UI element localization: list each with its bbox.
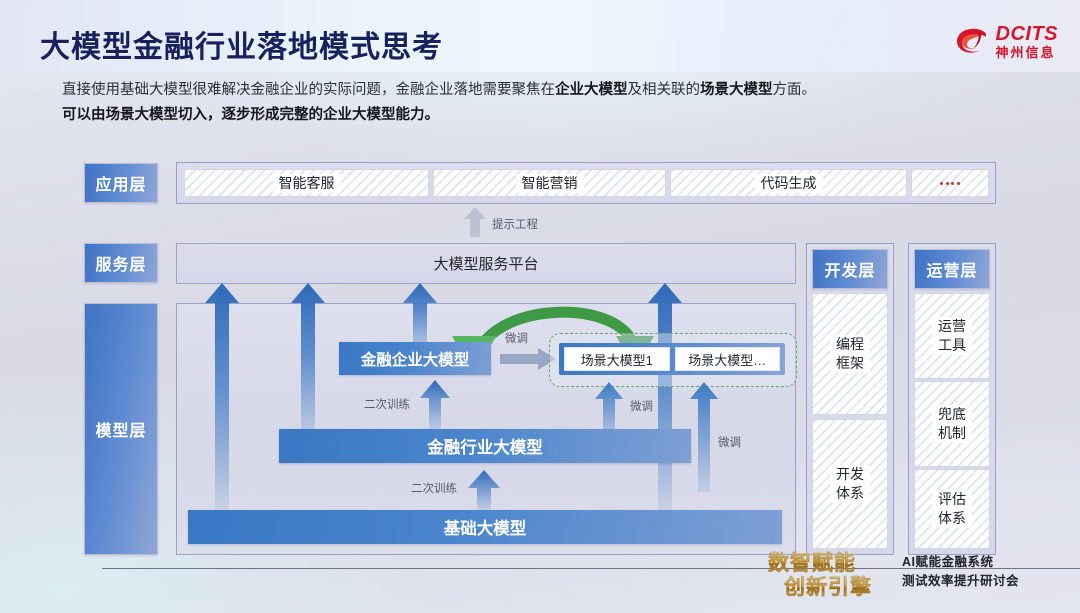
- service-platform-label: 大模型服务平台: [433, 253, 538, 274]
- retrain-note-1: 二次训练: [364, 396, 410, 412]
- base-model-label: 基础大模型: [444, 515, 527, 539]
- finetune-note-3: 微调: [718, 434, 741, 450]
- brand-name-en: DCITS: [996, 24, 1059, 44]
- scenario-model-1[interactable]: 场景大模型1: [564, 347, 670, 371]
- layer-tag-model: 模型层: [84, 303, 158, 555]
- event-name-line-2: 测试效率提升研讨会: [902, 572, 1052, 591]
- brand-logo: DCITS 神州信息: [955, 24, 1059, 59]
- slide-canvas: 大模型金融行业落地模式思考 直接使用基础大模型很难解决金融企业的实际问题，金融企…: [0, 0, 1080, 613]
- app-item-more[interactable]: [911, 169, 989, 197]
- prompt-engineering-arrow-icon: [464, 207, 486, 237]
- prompt-engineering-note: 提示工程: [492, 216, 538, 232]
- dev-item-dev-system-label: 开发 体系: [830, 465, 870, 503]
- app-item-smart-marketing-label: 智能营销: [516, 174, 584, 193]
- ops-column-tag: 运营层: [914, 249, 990, 289]
- retrain-note-2: 二次训练: [411, 480, 457, 496]
- ops-item-evaluation-system[interactable]: 评估 体系: [914, 469, 990, 549]
- dcits-swirl-icon: [955, 26, 989, 58]
- model-to-service-arrow-2: [291, 283, 325, 443]
- industry-model-box[interactable]: 金融行业大模型: [279, 429, 691, 463]
- app-item-smart-service-label: 智能客服: [273, 174, 341, 193]
- scenario-model-wrap: 场景大模型1 场景大模型…: [559, 343, 785, 375]
- app-item-smart-marketing[interactable]: 智能营销: [433, 169, 666, 197]
- layer-tag-application: 应用层: [84, 163, 158, 203]
- finetune-note-2: 微调: [630, 398, 653, 414]
- dev-column-tag: 开发层: [812, 249, 888, 289]
- event-logo-line-1: 数智赋能: [768, 552, 898, 575]
- scenario-model-2-label: 场景大模型…: [688, 350, 766, 369]
- industry-model-label: 金融行业大模型: [427, 434, 543, 458]
- ops-item-evaluation-system-label: 评估 体系: [932, 490, 972, 528]
- finetune-note-1: 微调: [505, 330, 528, 346]
- event-logo: 数智赋能 创新引擎: [768, 547, 898, 603]
- subtitle-emph-scenario: 场景大模型: [700, 82, 773, 98]
- brand-name-cn: 神州信息: [996, 46, 1059, 59]
- event-name: AI赋能金融系统 测试效率提升研讨会: [902, 553, 1052, 591]
- event-name-line-1: AI赋能金融系统: [902, 553, 1052, 572]
- app-item-code-generation[interactable]: 代码生成: [670, 169, 907, 197]
- enterprise-model-box[interactable]: 金融企业大模型: [339, 342, 491, 375]
- model-to-service-arrow-1: [205, 283, 239, 515]
- dev-item-dev-system[interactable]: 开发 体系: [812, 419, 888, 549]
- brand-text: DCITS 神州信息: [996, 24, 1059, 59]
- layer-tag-service: 服务层: [84, 243, 158, 283]
- scenario-finetune-arrow-2: [690, 382, 718, 492]
- subtitle-text-a: 直接使用基础大模型很难解决金融企业的实际问题，金融企业落地需要聚焦在: [62, 82, 555, 98]
- industry-to-enterprise-arrow: [420, 380, 450, 430]
- dev-item-programming-framework-label: 编程 框架: [830, 335, 870, 373]
- page-title: 大模型金融行业落地模式思考: [40, 22, 443, 66]
- event-logo-line-2: 创新引擎: [784, 576, 898, 599]
- ops-item-operation-tools-label: 运营 工具: [932, 317, 972, 355]
- subtitle-text-e: 方面。: [773, 82, 817, 98]
- more-ellipsis-icon: [940, 182, 960, 185]
- finetune-arrow-icon: [500, 348, 556, 370]
- base-to-industry-arrow: [468, 470, 500, 510]
- subtitle-text-c: 及相关联的: [628, 82, 701, 98]
- ops-item-fallback-mechanism[interactable]: 兜底 机制: [914, 381, 990, 467]
- ops-item-fallback-mechanism-label: 兜底 机制: [932, 405, 972, 443]
- base-model-box[interactable]: 基础大模型: [188, 510, 782, 544]
- app-item-code-generation-label: 代码生成: [755, 174, 823, 193]
- ops-item-operation-tools[interactable]: 运营 工具: [914, 293, 990, 379]
- scenario-model-1-label: 场景大模型1: [581, 350, 653, 369]
- dev-item-programming-framework[interactable]: 编程 框架: [812, 293, 888, 415]
- subtitle-emph-enterprise: 企业大模型: [555, 82, 628, 98]
- subtitle: 直接使用基础大模型很难解决金融企业的实际问题，金融企业落地需要聚焦在企业大模型及…: [62, 78, 1022, 128]
- app-item-smart-service[interactable]: 智能客服: [184, 169, 429, 197]
- subtitle-line-2: 可以由场景大模型切入，逐步形成完整的企业大模型能力。: [62, 107, 439, 123]
- enterprise-model-label: 金融企业大模型: [361, 348, 470, 370]
- service-platform-box[interactable]: 大模型服务平台: [176, 243, 796, 284]
- scenario-model-2[interactable]: 场景大模型…: [675, 347, 781, 371]
